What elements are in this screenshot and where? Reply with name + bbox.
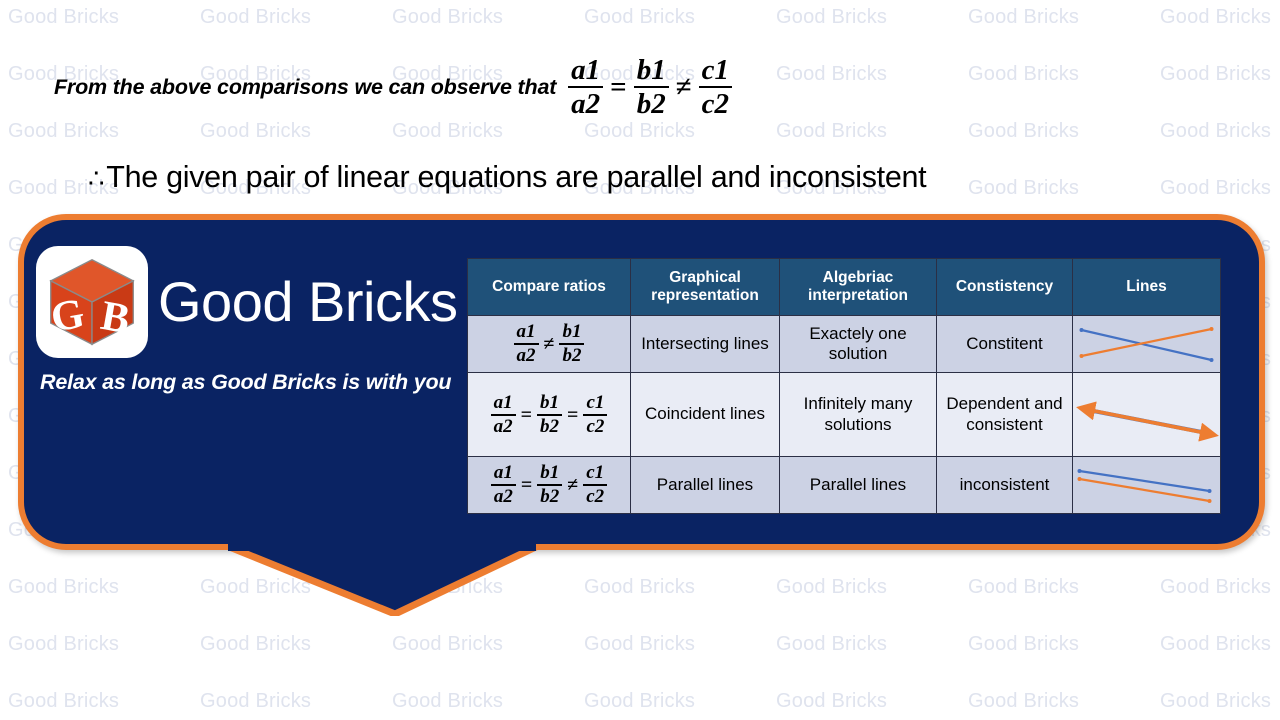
watermark-text: Good Bricks — [968, 633, 1079, 656]
fraction-b-numerator: b1 — [634, 55, 669, 85]
watermark-text: Good Bricks — [392, 690, 503, 713]
table-cell-graphical-representation: Coincident lines — [631, 373, 780, 457]
observation-line: From the above comparisons we can observ… — [54, 55, 732, 119]
table-header-algebraic-interpretation: Algebriac interpretation — [780, 259, 937, 316]
row1-fraction-a-denominator: a2 — [491, 417, 516, 437]
table-cell-algebraic-interpretation: Parallel lines — [780, 457, 937, 514]
row2-fraction-a: a1a2 — [491, 463, 516, 507]
table-cell-compare-ratios: a1a2≠b1b2 — [468, 316, 631, 373]
table-cell-algebraic-interpretation: Infinitely many solutions — [780, 373, 937, 457]
table-cell-compare-ratios: a1a2=b1b2≠c1c2 — [468, 457, 631, 514]
row1-fraction-c-numerator: c1 — [583, 393, 607, 413]
watermark-text: Good Bricks — [8, 576, 119, 599]
fraction-c: c1 c2 — [699, 55, 732, 119]
watermark-text: Good Bricks — [584, 576, 695, 599]
observation-equation: a1 a2 = b1 b2 ≠ c1 c2 — [568, 55, 732, 119]
watermark-text: Good Bricks — [968, 690, 1079, 713]
speech-bubble-tail — [222, 544, 542, 616]
watermark-text: Good Bricks — [584, 6, 695, 29]
row1-fraction-b-numerator: b1 — [537, 393, 562, 413]
watermark-text: Good Bricks — [8, 120, 119, 143]
row1-relation-2: = — [562, 403, 583, 427]
table-header-compare-ratios: Compare ratios — [468, 259, 631, 316]
row2-fraction-c: c1c2 — [583, 463, 607, 507]
fraction-a-numerator: a1 — [568, 55, 603, 85]
conclusion-text: The given pair of linear equations are p… — [106, 160, 926, 194]
table-header-graphical-representation: Graphical representation — [631, 259, 780, 316]
watermark-text: Good Bricks — [1160, 690, 1271, 713]
watermark-text: Good Bricks — [968, 576, 1079, 599]
table-row: a1a2≠b1b2Intersecting linesExactely one … — [468, 316, 1221, 373]
row2-fraction-c-numerator: c1 — [583, 463, 607, 483]
watermark-text: Good Bricks — [776, 6, 887, 29]
table-cell-consistency: Dependent and consistent — [937, 373, 1073, 457]
table-cell-compare-ratios: a1a2=b1b2=c1c2 — [468, 373, 631, 457]
conclusion-line: ∴The given pair of linear equations are … — [88, 160, 926, 195]
row0-fraction-a-numerator: a1 — [514, 322, 539, 342]
row0-fraction-b: b1b2 — [559, 322, 584, 366]
table-body: a1a2≠b1b2Intersecting linesExactely one … — [468, 316, 1221, 514]
table-header-consistency: Constistency — [937, 259, 1073, 316]
row2-fraction-a-numerator: a1 — [491, 463, 516, 483]
observation-text: From the above comparisons we can observ… — [54, 75, 556, 100]
watermark-text: Good Bricks — [200, 633, 311, 656]
brand-tagline: Relax as long as Good Bricks is with you — [40, 370, 466, 395]
relation-1: = — [603, 71, 634, 104]
brand-row: G B Good Bricks — [36, 246, 466, 358]
row1-fraction-c: c1c2 — [583, 393, 607, 437]
fraction-a-denominator: a2 — [568, 89, 603, 119]
watermark-text: Good Bricks — [776, 120, 887, 143]
table-cell-graphical-representation: Parallel lines — [631, 457, 780, 514]
brand-name: Good Bricks — [158, 274, 458, 330]
table-cell-lines — [1073, 457, 1221, 514]
watermark-text: Good Bricks — [200, 6, 311, 29]
row2-fraction-b: b1b2 — [537, 463, 562, 507]
watermark-text: Good Bricks — [8, 633, 119, 656]
row0-fraction-a: a1a2 — [514, 322, 539, 366]
row2-fraction-c-denominator: c2 — [583, 487, 607, 507]
watermark-text: Good Bricks — [968, 177, 1079, 200]
fraction-b: b1 b2 — [634, 55, 669, 119]
therefore-icon: ∴ — [88, 163, 106, 193]
table-row: a1a2=b1b2=c1c2Coincident linesInfinitely… — [468, 373, 1221, 457]
fraction-c-numerator: c1 — [699, 55, 732, 85]
watermark-text: Good Bricks — [392, 6, 503, 29]
lines-diagram-parallel — [1073, 457, 1220, 513]
row1-fraction-a: a1a2 — [491, 393, 516, 437]
watermark-text: Good Bricks — [1160, 177, 1271, 200]
watermark-text: Good Bricks — [776, 63, 887, 86]
watermark-text: Good Bricks — [776, 576, 887, 599]
watermark-text: Good Bricks — [392, 633, 503, 656]
watermark-text: Good Bricks — [1160, 576, 1271, 599]
row2-fraction-a-denominator: a2 — [491, 487, 516, 507]
fraction-c-denominator: c2 — [699, 89, 732, 119]
row2-relation-2: ≠ — [562, 473, 583, 497]
brand-block: G B Good Bricks Relax as long as Good Br… — [36, 246, 466, 395]
watermark-text: Good Bricks — [584, 120, 695, 143]
lines-diagram-intersecting — [1073, 316, 1220, 372]
watermark-text: Good Bricks — [968, 6, 1079, 29]
row0-relation-1: ≠ — [539, 332, 560, 356]
comparison-table: Compare ratios Graphical representation … — [467, 258, 1221, 514]
ratio-expression: a1a2≠b1b2 — [514, 322, 585, 366]
table-row: a1a2=b1b2≠c1c2Parallel linesParallel lin… — [468, 457, 1221, 514]
watermark-text: Good Bricks — [584, 690, 695, 713]
ratio-expression: a1a2=b1b2=c1c2 — [491, 393, 608, 437]
relation-2: ≠ — [669, 71, 699, 104]
watermark-text: Good Bricks — [968, 120, 1079, 143]
row1-fraction-a-numerator: a1 — [491, 393, 516, 413]
row1-fraction-b: b1b2 — [537, 393, 562, 437]
watermark-text: Good Bricks — [776, 633, 887, 656]
row0-fraction-b-numerator: b1 — [559, 322, 584, 342]
row2-fraction-b-denominator: b2 — [537, 487, 562, 507]
table-header-row: Compare ratios Graphical representation … — [468, 259, 1221, 316]
watermark-text: Good Bricks — [584, 633, 695, 656]
watermark-text: Good Bricks — [776, 690, 887, 713]
table-cell-consistency: inconsistent — [937, 457, 1073, 514]
table-cell-algebraic-interpretation: Exactely one solution — [780, 316, 937, 373]
ratio-expression: a1a2=b1b2≠c1c2 — [491, 463, 607, 507]
table-cell-lines — [1073, 316, 1221, 373]
watermark-text: Good Bricks — [1160, 633, 1271, 656]
watermark-text: Good Bricks — [1160, 120, 1271, 143]
table-cell-graphical-representation: Intersecting lines — [631, 316, 780, 373]
watermark-text: Good Bricks — [200, 690, 311, 713]
watermark-text: Good Bricks — [1160, 63, 1271, 86]
table-cell-consistency: Constitent — [937, 316, 1073, 373]
row1-fraction-c-denominator: c2 — [583, 417, 607, 437]
good-bricks-logo-icon: G B — [36, 246, 148, 358]
lines-diagram-coincident — [1073, 387, 1220, 443]
watermark-text: Good Bricks — [8, 690, 119, 713]
watermark-text: Good Bricks — [392, 120, 503, 143]
table-header-lines: Lines — [1073, 259, 1221, 316]
fraction-a: a1 a2 — [568, 55, 603, 119]
watermark-text: Good Bricks — [200, 120, 311, 143]
watermark-text: Good Bricks — [968, 63, 1079, 86]
watermark-text: Good Bricks — [8, 6, 119, 29]
table-cell-lines — [1073, 373, 1221, 457]
row1-relation-1: = — [516, 403, 537, 427]
row1-fraction-b-denominator: b2 — [537, 417, 562, 437]
watermark-text: Good Bricks — [1160, 6, 1271, 29]
cube-icon: G B — [44, 254, 140, 350]
row0-fraction-a-denominator: a2 — [514, 346, 539, 366]
row2-relation-1: = — [516, 473, 537, 497]
fraction-b-denominator: b2 — [634, 89, 669, 119]
row2-fraction-b-numerator: b1 — [537, 463, 562, 483]
row0-fraction-b-denominator: b2 — [559, 346, 584, 366]
